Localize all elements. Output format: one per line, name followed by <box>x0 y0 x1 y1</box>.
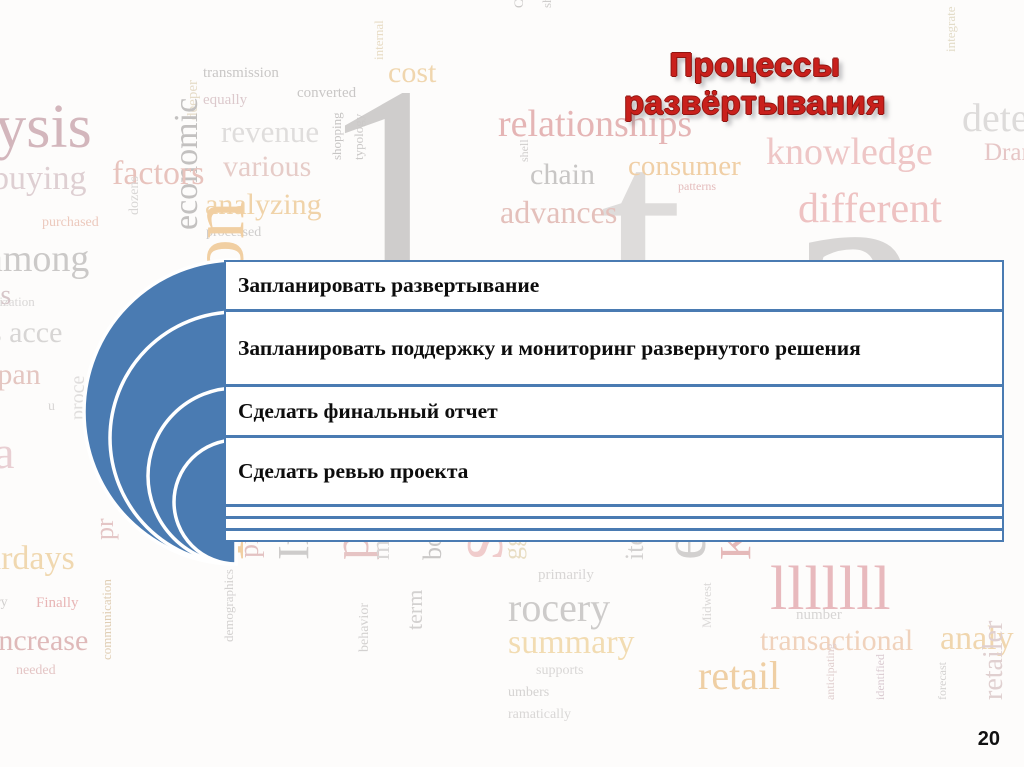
slide-title: Процессы развёртывания <box>520 46 990 122</box>
slide-title-line-1: Процессы <box>520 46 990 84</box>
process-step-list: Запланировать развертывание Запланироват… <box>224 260 1004 542</box>
list-item[interactable]: Сделать финальный отчет <box>224 385 1004 437</box>
slide-title-line-2: развёртывания <box>520 84 990 122</box>
list-item-label: Сделать ревью проекта <box>226 458 482 485</box>
list-item[interactable]: Запланировать развертывание <box>224 260 1004 311</box>
slide-canvas: 1 a t lysis deeper economic transmission… <box>0 0 1024 767</box>
slide-page-number: 20 <box>978 728 1000 751</box>
list-item-label: Запланировать поддержку и мониторинг раз… <box>226 335 875 362</box>
list-item-label: Запланировать развертывание <box>226 272 553 299</box>
list-item[interactable]: Сделать ревью проекта <box>224 436 1004 506</box>
list-item[interactable] <box>224 529 1004 542</box>
list-item-label: Сделать финальный отчет <box>226 398 512 425</box>
list-item[interactable]: Запланировать поддержку и мониторинг раз… <box>224 310 1004 386</box>
